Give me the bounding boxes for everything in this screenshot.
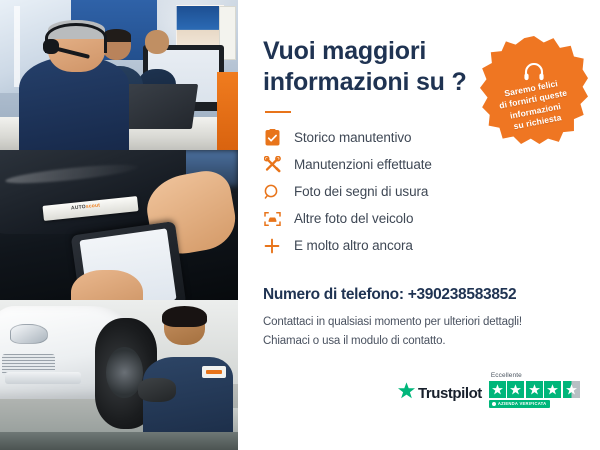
phone-number-line: Numero di telefono: +390238583852: [263, 286, 578, 304]
car-bumper: [5, 372, 81, 384]
star-filled: [544, 381, 561, 398]
star-filled: [507, 381, 524, 398]
trustpilot-logo: Trustpilot: [398, 382, 482, 404]
contact-description-line-2: Chiamaci o usa il modulo di contatto.: [263, 335, 445, 347]
headset-icon: [523, 63, 545, 81]
trustpilot-score: Eccellente: [489, 372, 580, 408]
vehicle-inspection-photo: AUTOscout: [0, 150, 238, 300]
call-center-agents-photo: [0, 0, 238, 150]
list-item: Foto dei segni di usura: [263, 178, 578, 205]
car-headlight: [10, 324, 48, 344]
car-scan-icon: [263, 210, 281, 228]
page-title: Vuoi maggiori informazioni su ?: [263, 36, 478, 97]
trustpilot-wordmark: Trustpilot: [418, 385, 482, 402]
callout-badge: Saremo felici di fornirti queste informa…: [480, 36, 588, 144]
hand-holding-tablet: [71, 270, 142, 300]
content-panel: Vuoi maggiori informazioni su ? Saremo f…: [238, 0, 600, 450]
agent-three-head: [145, 30, 169, 54]
star-rating: [489, 381, 580, 398]
contact-description-line-1: Contattaci in qualsiasi momento per ulte…: [263, 316, 522, 328]
feature-label: Foto dei segni di usura: [294, 184, 428, 199]
plus-icon: [263, 237, 281, 255]
clipboard-check-icon: [263, 129, 281, 147]
list-item: Altre foto del veicolo: [263, 205, 578, 232]
wall-poster: [176, 5, 224, 50]
title-divider: [265, 111, 291, 113]
page-title-line-2: informazioni su ?: [263, 68, 467, 96]
mechanic-glove: [138, 378, 176, 402]
list-item: E molto altro ancora: [263, 232, 578, 259]
feature-label: E molto altro ancora: [294, 238, 413, 253]
star-filled: [489, 381, 506, 398]
feature-label: Manutenzioni effettuate: [294, 157, 432, 172]
rating-label: Eccellente: [489, 372, 522, 379]
star-half: [563, 381, 580, 398]
verified-label: AZIENDA VERIFICATA: [498, 401, 547, 406]
verified-check-icon: [492, 402, 496, 406]
status-badge: AZIENDA VERIFICATA: [489, 400, 551, 408]
uniform-logo-patch: [202, 366, 226, 378]
photo-column: AUTOscout: [0, 0, 238, 450]
trustpilot-rating[interactable]: Trustpilot Eccellente: [398, 372, 580, 408]
magnifier-icon: [263, 183, 281, 201]
contact-block: Numero di telefono: +390238583852 Contat…: [263, 286, 578, 350]
garage-floor: [0, 432, 238, 450]
orange-accent-strip: [217, 72, 238, 150]
mechanic-hair: [162, 306, 207, 327]
feature-label: Altre foto del veicolo: [294, 211, 413, 226]
laptop: [121, 84, 199, 129]
contact-description: Contattaci in qualsiasi momento per ulte…: [263, 313, 578, 350]
feature-label: Storico manutentivo: [294, 130, 411, 145]
star-filled: [526, 381, 543, 398]
promo-banner: AUTOscout Vuoi maggiori informazioni: [0, 0, 600, 450]
tools-cross-icon: [263, 156, 281, 174]
headset-earcup: [43, 39, 60, 54]
feature-list: Storico manutentivo Manutenzioni effettu…: [263, 124, 578, 259]
trustpilot-star-icon: [398, 382, 415, 404]
page-title-line-1: Vuoi maggiori: [263, 37, 426, 65]
mechanic-wheel-photo: [0, 300, 238, 450]
list-item: Manutenzioni effettuate: [263, 151, 578, 178]
